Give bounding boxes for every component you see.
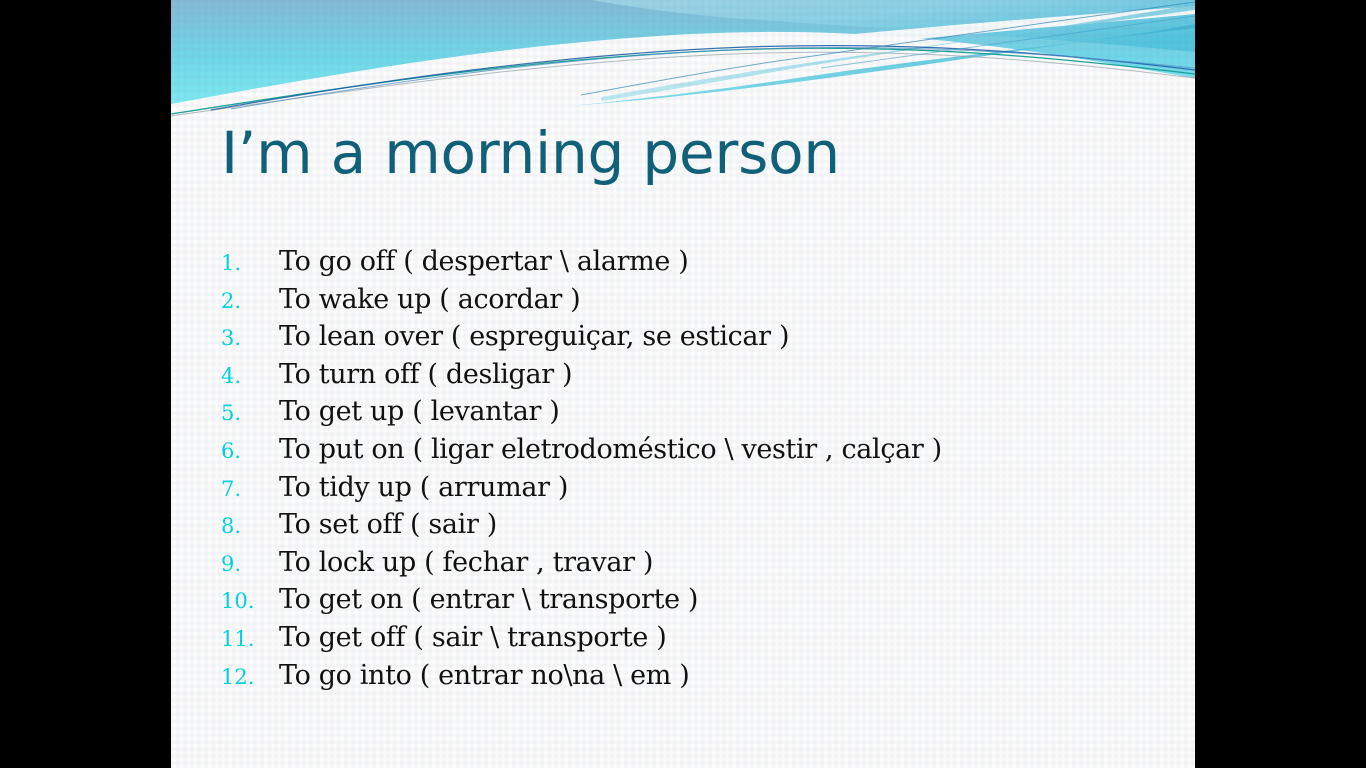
list-item-text: To put on ( ligar eletrodoméstico \ vest…	[279, 436, 1171, 463]
list-item: 9. To lock up ( fechar , travar )	[211, 549, 1171, 587]
list-item-number: 8.	[211, 516, 279, 537]
list-item: 2. To wake up ( acordar )	[211, 286, 1171, 324]
list-item-text: To wake up ( acordar )	[279, 286, 1171, 313]
list-item-text: To get up ( levantar )	[279, 398, 1171, 425]
screen: I’m a morning person 1. To go off ( desp…	[0, 0, 1366, 768]
list-item: 4. To turn off ( desligar )	[211, 361, 1171, 399]
list-item: 3. To lean over ( espreguiçar, se estica…	[211, 323, 1171, 361]
list-item-number: 5.	[211, 403, 279, 424]
list-item: 1. To go off ( despertar \ alarme )	[211, 248, 1171, 286]
list-item: 11. To get off ( sair \ transporte )	[211, 624, 1171, 662]
list-item-number: 12.	[211, 667, 279, 688]
list-item: 12. To go into ( entrar no\na \ em )	[211, 662, 1171, 700]
list-item-text: To lock up ( fechar , travar )	[279, 549, 1171, 576]
slide-title: I’m a morning person	[221, 122, 1151, 186]
list-item-text: To set off ( sair )	[279, 511, 1171, 538]
list-item-number: 2.	[211, 291, 279, 312]
list-item-number: 4.	[211, 366, 279, 387]
list-item-number: 3.	[211, 328, 279, 349]
list-item-text: To go into ( entrar no\na \ em )	[279, 662, 1171, 689]
list-item-text: To turn off ( desligar )	[279, 361, 1171, 388]
list-item-number: 1.	[211, 253, 279, 274]
list-item-text: To get off ( sair \ transporte )	[279, 624, 1171, 651]
list-item: 6. To put on ( ligar eletrodoméstico \ v…	[211, 436, 1171, 474]
list-item: 7. To tidy up ( arrumar )	[211, 474, 1171, 512]
list-item-text: To go off ( despertar \ alarme )	[279, 248, 1171, 275]
list-item-text: To lean over ( espreguiçar, se esticar )	[279, 323, 1171, 350]
list-item-number: 11.	[211, 629, 279, 650]
list-item-number: 7.	[211, 479, 279, 500]
list-item-text: To tidy up ( arrumar )	[279, 474, 1171, 501]
list-item: 5. To get up ( levantar )	[211, 398, 1171, 436]
list-item-number: 10.	[211, 591, 279, 612]
presentation-slide: I’m a morning person 1. To go off ( desp…	[171, 0, 1195, 768]
list-item: 8. To set off ( sair )	[211, 511, 1171, 549]
slide-body-numbered-list: 1. To go off ( despertar \ alarme ) 2. T…	[211, 248, 1171, 699]
list-item-number: 6.	[211, 441, 279, 462]
list-item-number: 9.	[211, 554, 279, 575]
list-item: 10. To get on ( entrar \ transporte )	[211, 586, 1171, 624]
list-item-text: To get on ( entrar \ transporte )	[279, 586, 1171, 613]
flow-wave-banner-graphic	[171, 0, 1195, 120]
